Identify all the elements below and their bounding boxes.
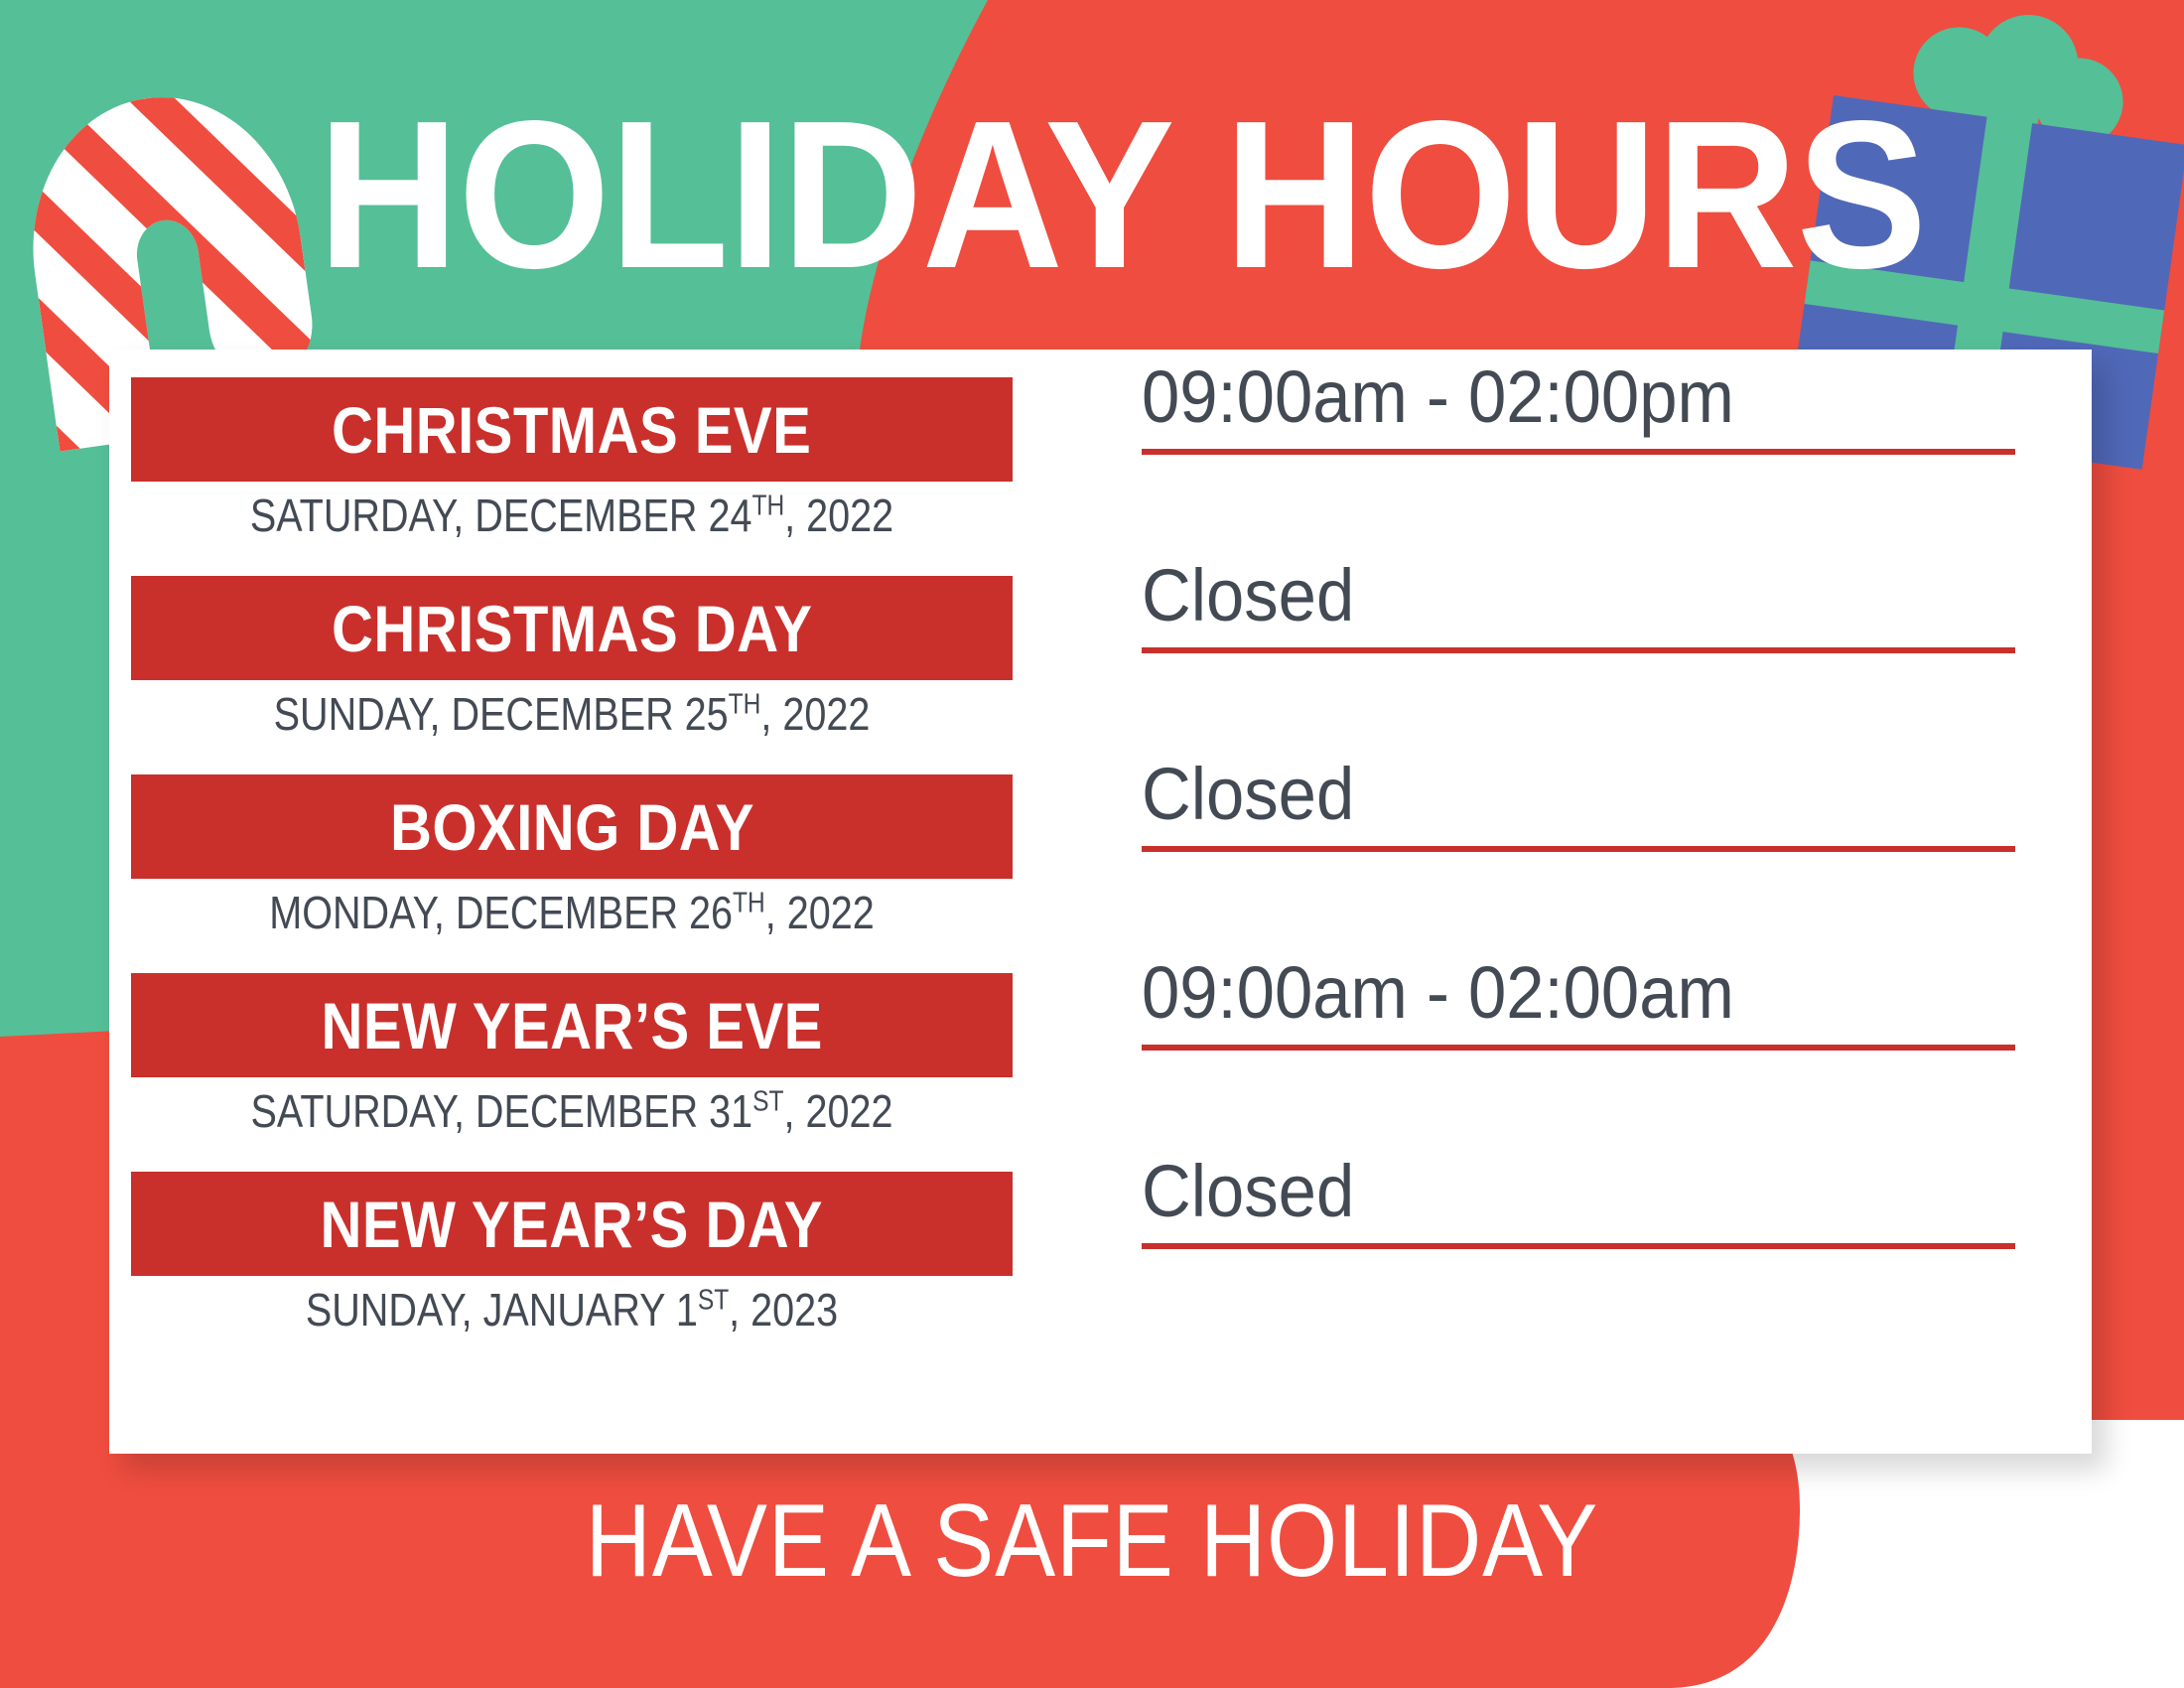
hours-underline <box>1142 846 2015 852</box>
hours-cell: Closed <box>1142 548 2043 653</box>
day-label: CHRISTMAS EVE <box>332 397 811 463</box>
hours-card: CHRISTMAS EVE SATURDAY, DECEMBER 24TH, 2… <box>109 350 2092 1454</box>
day-label: NEW YEAR’S EVE <box>321 993 822 1058</box>
hours-value: Closed <box>1142 548 1979 643</box>
hours-value: Closed <box>1142 747 1979 842</box>
hours-underline <box>1142 1045 2015 1051</box>
hours-value: 09:00am - 02:00pm <box>1142 350 1979 445</box>
hours-cell: Closed <box>1142 1144 2043 1249</box>
day-banner: NEW YEAR’S EVE <box>131 973 1013 1077</box>
hours-table: CHRISTMAS EVE SATURDAY, DECEMBER 24TH, 2… <box>109 350 2092 1454</box>
hours-value: 09:00am - 02:00am <box>1142 945 1979 1041</box>
hours-underline <box>1142 647 2015 653</box>
hours-underline <box>1142 449 2015 455</box>
day-label: CHRISTMAS DAY <box>332 596 812 661</box>
hours-underline <box>1142 1243 2015 1249</box>
date-label: SATURDAY, DECEMBER 31ST, 2022 <box>193 1082 951 1140</box>
day-banner: CHRISTMAS DAY <box>131 576 1013 680</box>
day-banner: CHRISTMAS EVE <box>131 377 1013 482</box>
date-label: SUNDAY, DECEMBER 25TH, 2022 <box>193 685 951 743</box>
hours-cell: 09:00am - 02:00am <box>1142 945 2043 1051</box>
hours-cell: 09:00am - 02:00pm <box>1142 350 2043 455</box>
page-title: HOLIDAY HOURS <box>318 95 1795 304</box>
day-label: NEW YEAR’S DAY <box>321 1192 823 1257</box>
date-label: MONDAY, DECEMBER 26TH, 2022 <box>193 884 951 941</box>
day-label: BOXING DAY <box>390 794 754 860</box>
date-label: SUNDAY, JANUARY 1ST, 2023 <box>193 1281 951 1338</box>
day-banner: NEW YEAR’S DAY <box>131 1172 1013 1276</box>
hours-cell: Closed <box>1142 747 2043 852</box>
hours-value: Closed <box>1142 1144 1979 1239</box>
date-label: SATURDAY, DECEMBER 24TH, 2022 <box>193 487 951 544</box>
day-banner: BOXING DAY <box>131 774 1013 879</box>
footer-message: HAVE A SAFE HOLIDAY <box>131 1481 2053 1601</box>
holiday-hours-poster: HOLIDAY HOURS CHRISTMAS EVE SATURDAY, DE… <box>0 0 2184 1688</box>
